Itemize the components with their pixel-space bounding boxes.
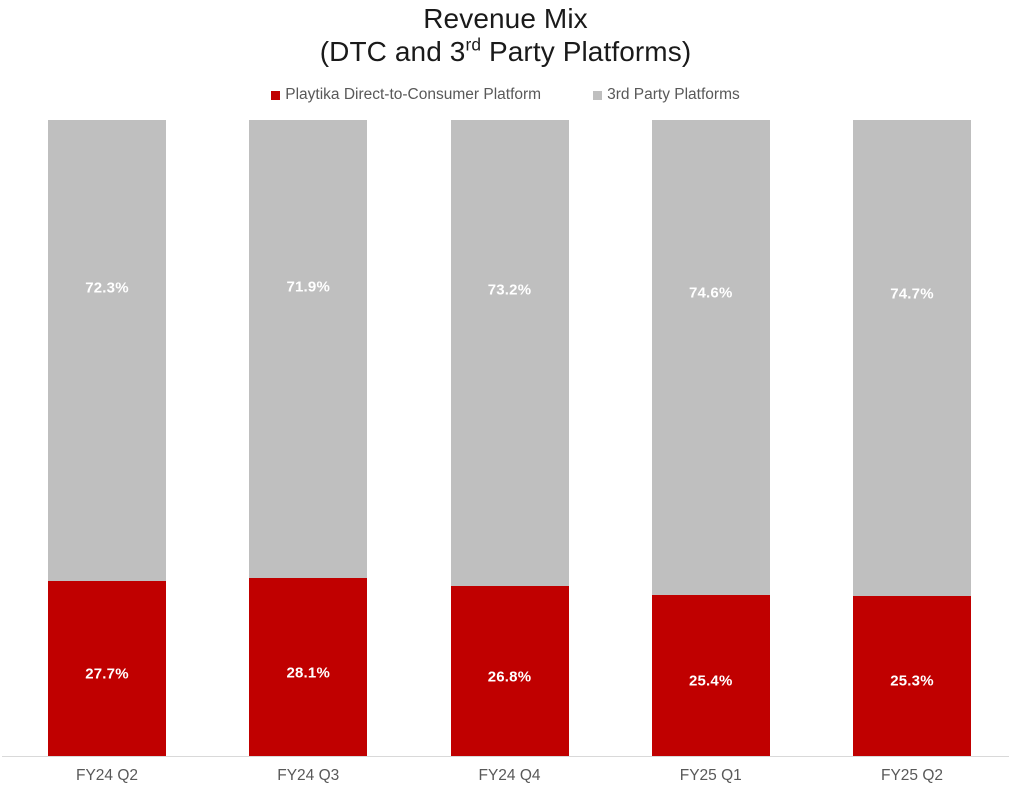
chart-title-block: Revenue Mix (DTC and 3rd Party Platforms… — [0, 2, 1011, 68]
data-label-third-party: 72.3% — [85, 280, 129, 297]
category-label-fy24-q2: FY24 Q2 — [48, 767, 166, 785]
revenue-mix-chart: Revenue Mix (DTC and 3rd Party Platforms… — [0, 0, 1011, 794]
bar-column-fy24-q3: 71.9% 28.1% — [249, 120, 367, 757]
data-label-dtc: 28.1% — [286, 664, 330, 681]
data-label-dtc: 25.4% — [689, 672, 733, 689]
bar-segment-third-party[interactable]: 71.9% — [249, 120, 367, 578]
data-label-third-party: 71.9% — [286, 279, 330, 296]
category-label-fy24-q4: FY24 Q4 — [451, 767, 569, 785]
bar-segment-dtc[interactable]: 28.1% — [249, 578, 367, 757]
category-label-fy25-q2: FY25 Q2 — [853, 767, 971, 785]
data-label-dtc: 25.3% — [890, 673, 934, 690]
legend-label-dtc: Playtika Direct-to-Consumer Platform — [285, 86, 541, 104]
bar-segment-dtc[interactable]: 25.4% — [652, 595, 770, 757]
bar-segment-dtc[interactable]: 26.8% — [451, 586, 569, 757]
bar-segment-third-party[interactable]: 74.6% — [652, 120, 770, 595]
plot-area: 72.3% 27.7% 71.9% 28.1% 73.2% — [48, 106, 971, 794]
chart-subtitle-ordinal: rd — [465, 35, 481, 55]
bar-group: 72.3% 27.7% 71.9% 28.1% 73.2% — [48, 120, 971, 757]
category-label-fy25-q1: FY25 Q1 — [652, 767, 770, 785]
bar-column-fy25-q1: 74.6% 25.4% — [652, 120, 770, 757]
category-label-fy24-q3: FY24 Q3 — [249, 767, 367, 785]
bar-column-fy24-q2: 72.3% 27.7% — [48, 120, 166, 757]
data-label-third-party: 74.7% — [890, 285, 934, 302]
data-label-dtc: 26.8% — [488, 668, 532, 685]
bar-segment-dtc[interactable]: 27.7% — [48, 581, 166, 757]
legend-swatch-third-party-icon — [593, 91, 602, 100]
chart-subtitle: (DTC and 3rd Party Platforms) — [0, 35, 1011, 68]
legend-item-third-party[interactable]: 3rd Party Platforms — [593, 86, 740, 104]
bar-segment-third-party[interactable]: 72.3% — [48, 120, 166, 581]
bar-segment-third-party[interactable]: 73.2% — [451, 120, 569, 586]
legend-label-third-party: 3rd Party Platforms — [607, 86, 740, 104]
category-axis: FY24 Q2 FY24 Q3 FY24 Q4 FY25 Q1 FY25 Q2 — [48, 757, 971, 794]
bar-segment-third-party[interactable]: 74.7% — [853, 120, 971, 596]
data-label-third-party: 73.2% — [488, 282, 532, 299]
chart-legend: Playtika Direct-to-Consumer Platform 3rd… — [0, 84, 1011, 106]
bar-column-fy25-q2: 74.7% 25.3% — [853, 120, 971, 757]
chart-title: Revenue Mix — [0, 2, 1011, 35]
bar-segment-dtc[interactable]: 25.3% — [853, 596, 971, 757]
chart-subtitle-prefix: (DTC and 3 — [320, 36, 466, 67]
legend-item-dtc[interactable]: Playtika Direct-to-Consumer Platform — [271, 86, 541, 104]
chart-subtitle-suffix: Party Platforms) — [481, 36, 691, 67]
bar-column-fy24-q4: 73.2% 26.8% — [451, 120, 569, 757]
data-label-dtc: 27.7% — [85, 666, 129, 683]
legend-swatch-dtc-icon — [271, 91, 280, 100]
data-label-third-party: 74.6% — [689, 285, 733, 302]
